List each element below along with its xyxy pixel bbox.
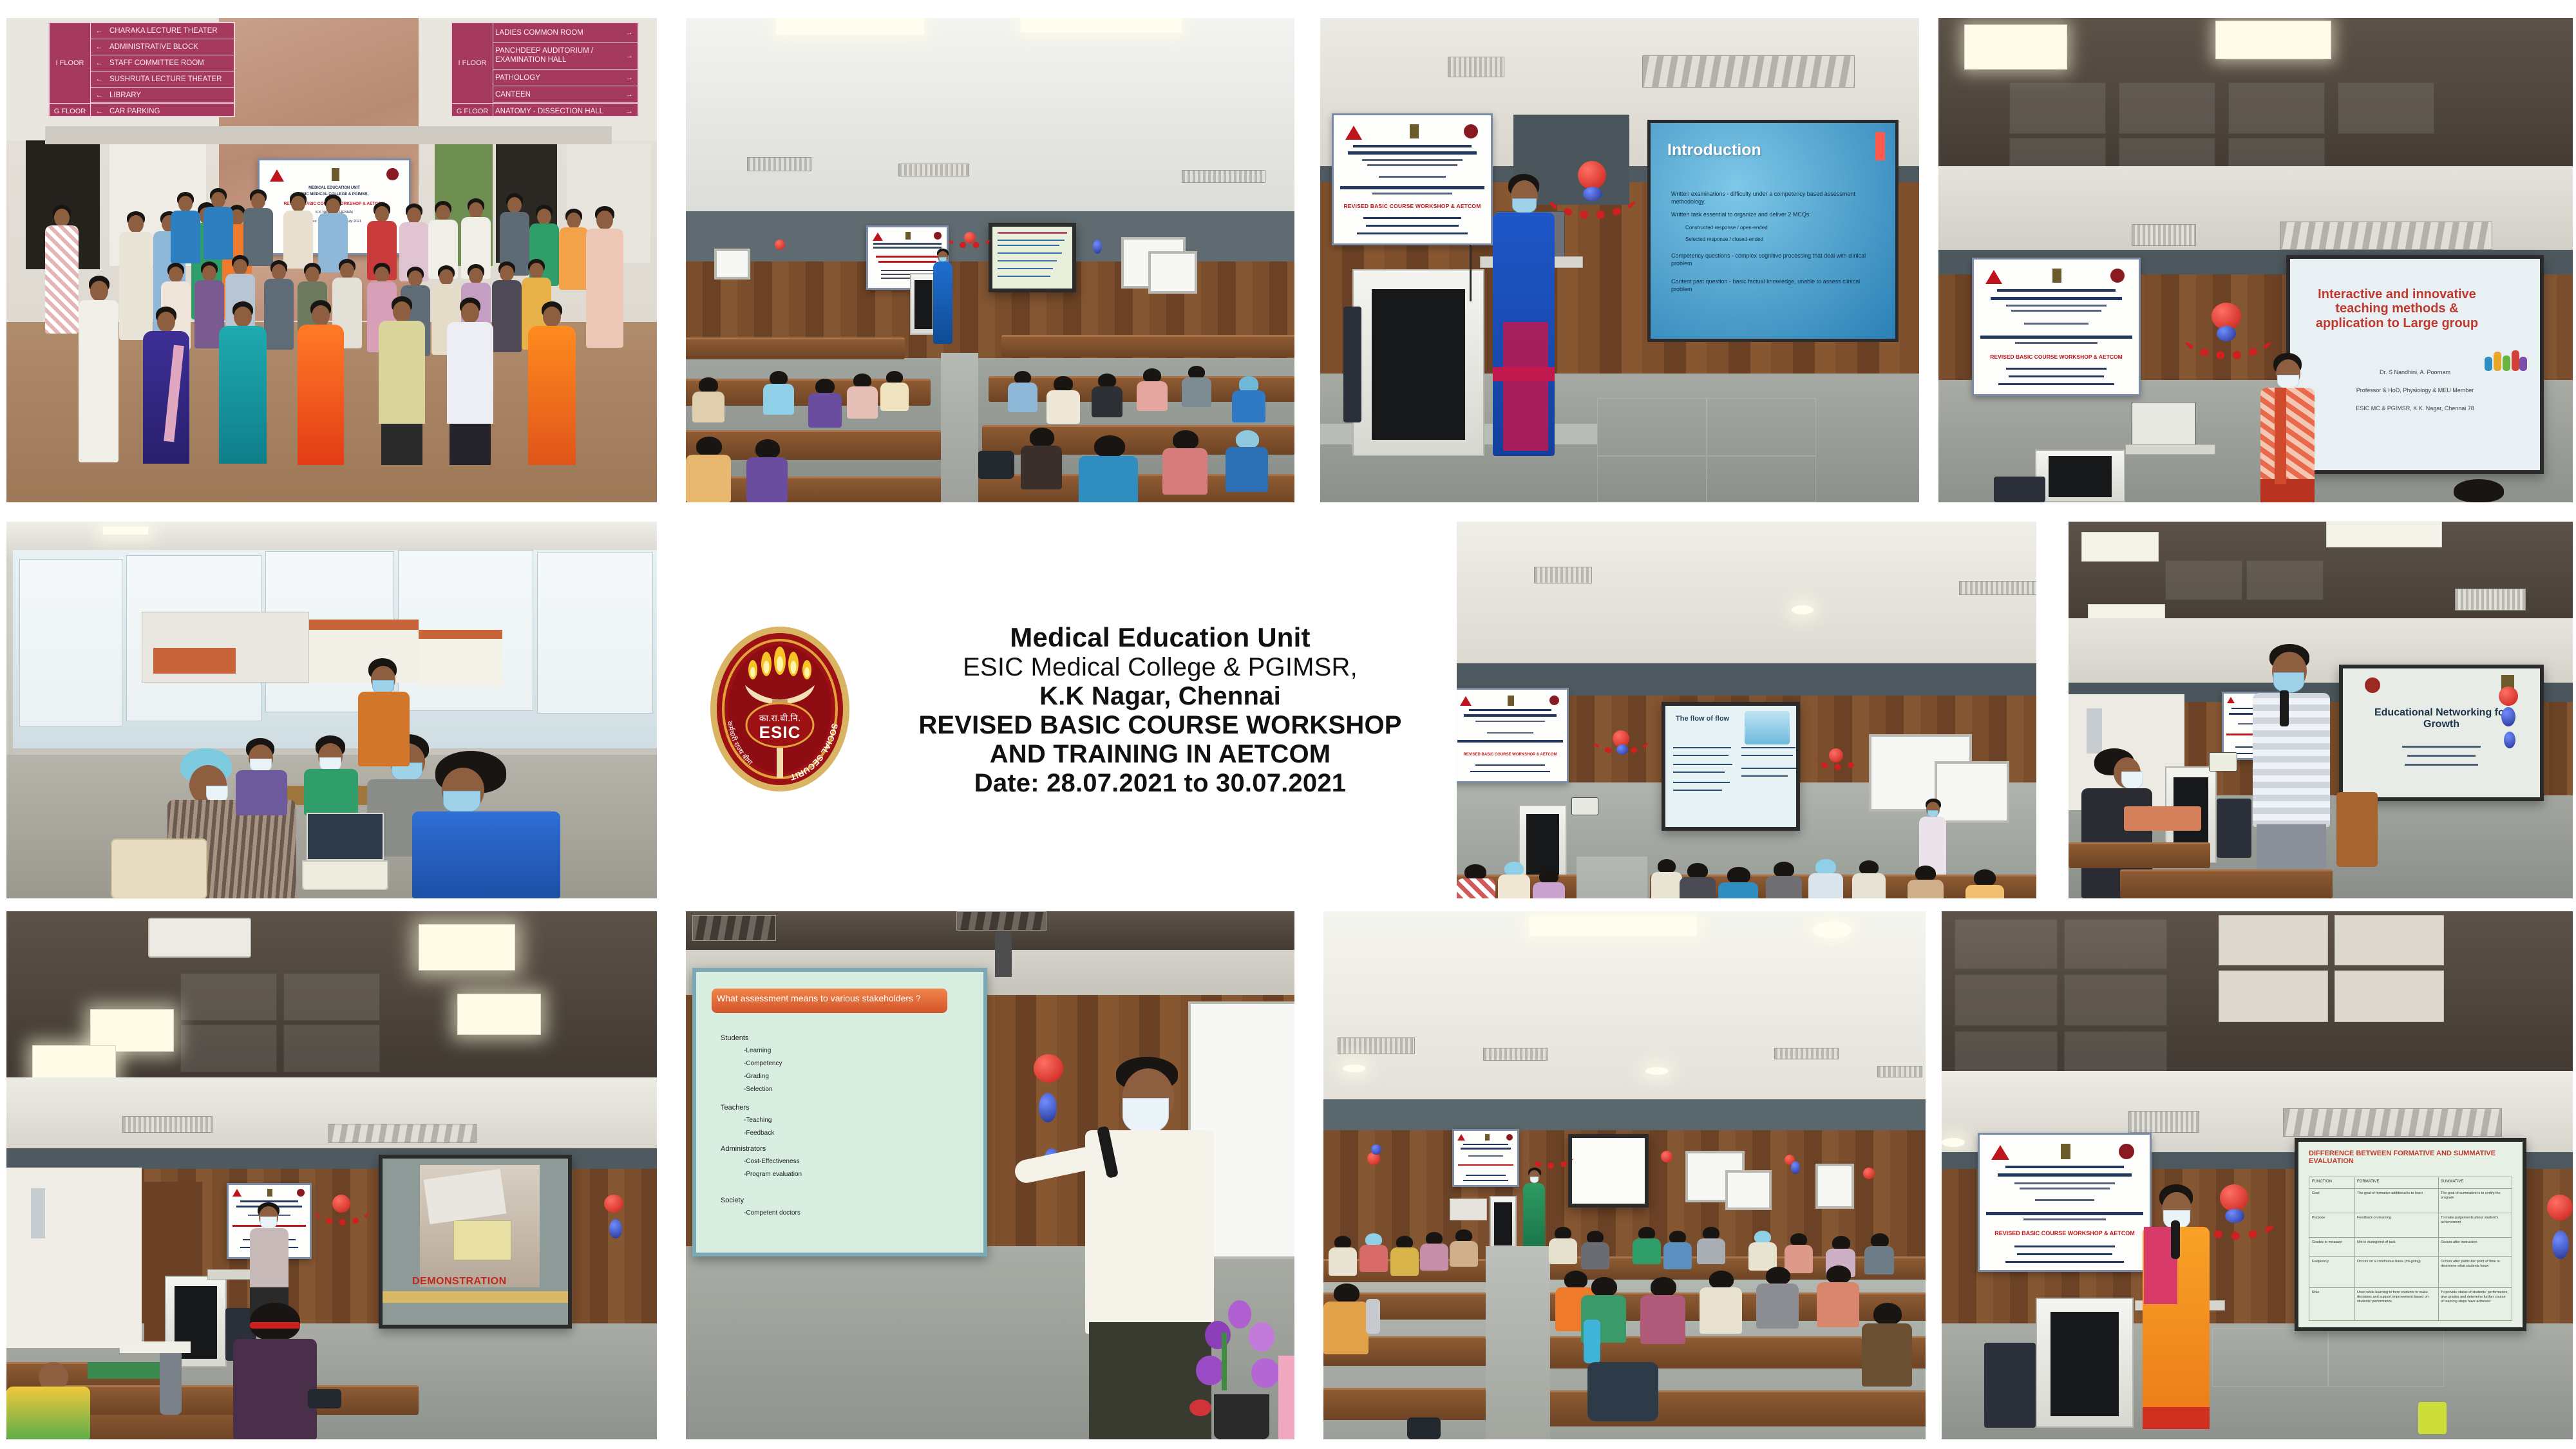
table-cell: Feedback on learning xyxy=(2357,1216,2436,1220)
emblem-icon xyxy=(2061,1144,2070,1159)
slide-title: DEMONSTRATION xyxy=(412,1276,507,1287)
slide-bullet: Written examinations - difficulty under … xyxy=(1671,190,1880,205)
sign-left-label: ADMINISTRATIVE BLOCK xyxy=(108,43,234,51)
chair xyxy=(2217,799,2251,858)
side-whiteboard xyxy=(714,249,750,279)
photo-lecture-hall-audience-1 xyxy=(686,18,1294,502)
projection-screen: Interactive and innovative teaching meth… xyxy=(2286,255,2544,474)
esic-logo: का.रा.बी.नि. ESIC SOCIAL SECURITY कर्मचा… xyxy=(705,623,855,797)
mci-logo-icon xyxy=(2227,697,2235,703)
emblem-icon xyxy=(332,168,339,181)
svg-text:ESIC: ESIC xyxy=(759,723,801,742)
title-line-2: ESIC Medical College & PGIMSR, xyxy=(871,653,1449,682)
projection-screen xyxy=(1568,1134,1649,1207)
sign-left-row: ← LIBRARY xyxy=(91,88,234,103)
balloon-blue xyxy=(1093,240,1102,254)
title-line-4: REVISED BASIC COURSE WORKSHOP xyxy=(871,711,1449,740)
balloon-blue xyxy=(2225,1209,2244,1223)
podium xyxy=(2035,450,2125,502)
sign-left-label: LIBRARY xyxy=(108,91,234,99)
laptop xyxy=(1571,797,1598,815)
table-cell: Used while learning to form students to … xyxy=(2357,1291,2436,1304)
balloon-red xyxy=(1829,748,1843,762)
chair xyxy=(111,838,207,898)
mci-logo-icon xyxy=(1985,270,2002,284)
photo-classroom-wide-view xyxy=(1323,911,1926,1439)
sign-right-label: LADIES COMMON ROOM xyxy=(493,29,621,37)
event-banner: REVISED BASIC COURSE WORKSHOP & AETCOM xyxy=(1457,688,1569,783)
projection-screen xyxy=(989,223,1076,292)
slide-bullet: Constructed response / open-ended xyxy=(1685,225,1880,232)
people-graphic-icon xyxy=(2483,348,2528,381)
balloon-blue xyxy=(1039,1093,1057,1122)
slide-group-name: Society xyxy=(721,1196,744,1206)
photo-lecture-hall-audience-2: REVISED BASIC COURSE WORKSHOP & AETCOM T… xyxy=(1457,522,2036,898)
slide-item: -Competency xyxy=(744,1059,782,1068)
speaker xyxy=(1493,174,1555,456)
slide-item: -Cost-Effectiveness xyxy=(744,1157,800,1166)
mci-logo-icon xyxy=(232,1189,241,1197)
sign-left-floor-2: G FLOOR xyxy=(50,103,91,118)
participant xyxy=(412,751,560,898)
sign-right-row: PANCHDEEP AUDITORIUM / EXAMINATION HALL … xyxy=(493,43,638,70)
chair xyxy=(1343,307,1361,422)
emblem-icon xyxy=(2052,269,2061,283)
photo-interactive-teaching-slide: REVISED BASIC COURSE WORKSHOP & AETCOM I… xyxy=(1938,18,2573,502)
sign-right-label: PATHOLOGY xyxy=(493,74,621,82)
arrow-right-icon: → xyxy=(621,108,638,115)
table-cell: Occurs after particular point of time to… xyxy=(2441,1260,2509,1269)
sign-right-label: PANCHDEEP AUDITORIUM / EXAMINATION HALL xyxy=(493,47,621,64)
sign-left-floor-1: I FLOOR xyxy=(50,23,91,103)
title-card: का.रा.बी.नि. ESIC SOCIAL SECURITY कर्मचा… xyxy=(686,522,1449,898)
waste-bin xyxy=(2418,1402,2447,1434)
sign-left-row: ← CAR PARKING xyxy=(91,103,234,118)
arrow-right-icon: → xyxy=(621,52,638,60)
balloon-red xyxy=(332,1195,350,1213)
speaker xyxy=(1523,1168,1545,1253)
table-cell: To provide status of students' performan… xyxy=(2441,1291,2509,1304)
banner-highlight: REVISED BASIC COURSE WORKSHOP & AETCOM xyxy=(1987,1230,2143,1236)
flipchart xyxy=(1725,1170,1772,1210)
slide-institution: ESIC MC & PGIMSR, K.K. Nagar, Chennai 78 xyxy=(2309,404,2521,412)
arrow-left-icon: ← xyxy=(91,75,108,83)
college-seal-icon xyxy=(1464,124,1478,138)
slide-title: Educational Networking for Growth xyxy=(2358,707,2524,730)
projection-screen: Introduction Written examinations - diff… xyxy=(1647,120,1899,342)
photo-demonstration-slide: DEMONSTRATION xyxy=(6,911,657,1439)
flower-arrangement xyxy=(1189,1294,1293,1439)
emblem-icon xyxy=(1410,124,1419,138)
title-line-1: Medical Education Unit xyxy=(871,622,1449,653)
sign-left-row: ← CHARAKA LECTURE THEATER xyxy=(91,23,234,39)
chair xyxy=(1994,477,2045,502)
mci-logo-icon xyxy=(873,232,883,241)
title-line-3: K.K Nagar, Chennai xyxy=(871,682,1449,711)
sign-right-floor-2: G FLOOR xyxy=(452,103,493,118)
sign-left-row: ← ADMINISTRATIVE BLOCK xyxy=(91,39,234,55)
arrow-left-icon: ← xyxy=(91,43,108,51)
title-text-block: Medical Education Unit ESIC Medical Coll… xyxy=(855,622,1449,798)
event-banner: REVISED BASIC COURSE WORKSHOP & AETCOM xyxy=(1972,258,2141,396)
sign-left-label: CAR PARKING xyxy=(108,108,234,115)
participant xyxy=(236,738,287,815)
photo-educational-networking-slide: Educational Networking for Growth xyxy=(2069,522,2573,898)
slide-title: The flow of flow xyxy=(1676,715,1729,723)
slide-designation: Professor & HoD, Physiology & MEU Member xyxy=(2309,386,2521,394)
slide-title: DIFFERENCE BETWEEN FORMATIVE AND SUMMATI… xyxy=(2309,1150,2512,1166)
balloon-red xyxy=(1034,1054,1063,1083)
arrow-right-icon: → xyxy=(621,91,638,99)
microphone xyxy=(2171,1220,2180,1259)
laptop xyxy=(2209,752,2237,772)
podium xyxy=(1352,269,1484,456)
sign-right-row: LADIES COMMON ROOM → xyxy=(493,23,638,43)
audience-head xyxy=(2454,479,2504,502)
mci-logo-icon xyxy=(1457,1134,1465,1141)
college-seal-icon xyxy=(2110,269,2125,283)
projection-screen: The flow of flow xyxy=(1662,702,1800,831)
directory-sign-left: I FLOOR G FLOOR ← CHARAKA LECTURE THEATE… xyxy=(48,22,235,117)
podium xyxy=(1490,1196,1517,1251)
banner-highlight: REVISED BASIC COURSE WORKSHOP & AETCOM xyxy=(1340,203,1485,209)
projection-screen: DIFFERENCE BETWEEN FORMATIVE AND SUMMATI… xyxy=(2295,1138,2526,1331)
slide-title: What assessment means to various stakeho… xyxy=(717,994,943,1004)
audience-member xyxy=(233,1303,317,1439)
balloon-red xyxy=(2220,1184,2248,1211)
photo-group-photo: I FLOOR G FLOOR ← CHARAKA LECTURE THEATE… xyxy=(6,18,657,502)
podium xyxy=(2036,1298,2134,1428)
table-cell: The goal of formative additional is to l… xyxy=(2357,1191,2436,1196)
laptop xyxy=(307,813,384,890)
table-cell: Occurs after instruction xyxy=(2441,1240,2509,1245)
speaker xyxy=(2143,1184,2210,1429)
slide-bullet: Content past question - basic factual kn… xyxy=(1671,278,1880,293)
mci-logo-icon xyxy=(270,169,284,182)
slide-item: -Learning xyxy=(744,1046,771,1056)
balloon-blue xyxy=(2504,732,2515,748)
sign-left-label: CHARAKA LECTURE THEATER xyxy=(108,27,234,35)
balloon-blue xyxy=(609,1219,622,1238)
table-cell: Frequency xyxy=(2312,1260,2352,1264)
directory-sign-right: I FLOOR G FLOOR LADIES COMMON ROOM → PAN… xyxy=(451,22,639,117)
title-line-5: AND TRAINING IN AETCOM xyxy=(871,740,1449,769)
event-banner: REVISED BASIC COURSE WORKSHOP & AETCOM xyxy=(1332,113,1493,245)
slide-item: -Program evaluation xyxy=(744,1170,802,1179)
photo-small-group-laptop-session xyxy=(6,522,657,898)
balloon-blue xyxy=(2501,707,2515,726)
table-cell: Occurs on a continuous basis (on-going) xyxy=(2357,1260,2436,1264)
college-seal-icon xyxy=(2365,677,2380,693)
balloon-blue xyxy=(2217,326,2236,341)
photo-collage: I FLOOR G FLOOR ← CHARAKA LECTURE THEATE… xyxy=(0,0,2576,1449)
arrow-right-icon: → xyxy=(621,29,638,37)
participant xyxy=(304,735,358,815)
wooden-chair xyxy=(2336,792,2378,867)
college-seal-icon xyxy=(386,168,399,180)
slide-group-name: Teachers xyxy=(721,1103,750,1113)
arrow-left-icon: ← xyxy=(91,27,108,35)
speaker xyxy=(2260,353,2315,502)
table-cell: Grades to measure xyxy=(2312,1240,2352,1245)
balloon-red xyxy=(964,232,976,243)
balloon-red xyxy=(2547,1195,2573,1220)
decorative-garland xyxy=(1528,1147,1573,1169)
photo-formative-summative-slide: REVISED BASIC COURSE WORKSHOP & AETCOM D… xyxy=(1942,911,2573,1439)
sign-right-floor-1: I FLOOR xyxy=(452,23,493,103)
slide-item: -Competent doctors xyxy=(744,1209,800,1218)
slide-group-name: Students xyxy=(721,1034,748,1043)
slide-title: Interactive and innovative teaching meth… xyxy=(2306,287,2488,330)
table-cell: To make judgements about student's achie… xyxy=(2441,1216,2509,1225)
side-screen xyxy=(1815,1164,1854,1209)
sign-right-label: ANATOMY - DISSECTION HALL xyxy=(493,108,621,115)
balloon-red xyxy=(1578,161,1606,189)
slide-item: -Selection xyxy=(744,1085,772,1094)
speaker xyxy=(933,249,952,344)
chair xyxy=(1984,1343,2036,1428)
table-cell: Role xyxy=(2312,1291,2352,1295)
table-cell: The goal of summative is to certify the … xyxy=(2441,1191,2509,1200)
slide-bullet: Selected response / closed-ended xyxy=(1685,236,1880,243)
speaker xyxy=(2253,644,2330,898)
banner-highlight: REVISED BASIC COURSE WORKSHOP & AETCOM xyxy=(1980,354,2132,360)
projection-screen: DEMONSTRATION xyxy=(379,1155,572,1329)
projection-screen: What assessment means to various stakeho… xyxy=(692,968,987,1256)
title-line-6: Date: 28.07.2021 to 30.07.2021 xyxy=(871,769,1449,798)
slide-bullet: Competency questions - complex cognitive… xyxy=(1671,252,1880,267)
banner-line-1: MEDICAL EDUCATION UNIT xyxy=(265,186,402,190)
slide-item: -Teaching xyxy=(744,1116,772,1125)
table-header-cell: FORMATIVE xyxy=(2357,1180,2380,1184)
speaker xyxy=(250,1202,289,1318)
balloon-blue xyxy=(1616,744,1628,755)
mci-logo-icon xyxy=(1991,1145,2009,1160)
balloon-red xyxy=(2499,687,2518,706)
photo-podium-introduction-slide: REVISED BASIC COURSE WORKSHOP & AETCOM I… xyxy=(1320,18,1919,502)
balloon-red xyxy=(604,1195,623,1213)
sign-left-row: ← STAFF COMMITTEE ROOM xyxy=(91,55,234,71)
laptop xyxy=(2132,402,2196,446)
photo-assessment-stakeholders-slide: What assessment means to various stakeho… xyxy=(686,911,1294,1439)
college-seal-icon xyxy=(2119,1144,2134,1159)
slide-group-name: Administrators xyxy=(721,1144,766,1154)
flipchart xyxy=(1148,251,1197,294)
banner-highlight: REVISED BASIC COURSE WORKSHOP & AETCOM xyxy=(1458,753,1562,757)
audience-member xyxy=(6,1356,90,1439)
arrow-left-icon: ← xyxy=(91,59,108,67)
projector xyxy=(148,918,251,958)
slide-item: -Grading xyxy=(744,1072,769,1081)
table-header-cell: FUNCTION xyxy=(2312,1180,2332,1184)
balloon-red xyxy=(1661,1151,1672,1162)
mci-logo-icon xyxy=(1345,126,1362,140)
balloon-blue xyxy=(1791,1161,1800,1174)
arrow-right-icon: → xyxy=(621,74,638,82)
event-banner xyxy=(1452,1129,1519,1187)
table-cell: Goal xyxy=(2312,1191,2352,1196)
arrow-left-icon: ← xyxy=(91,108,108,115)
table-header-cell: SUMMATIVE xyxy=(2441,1180,2463,1184)
sign-left-row: ← SUSHRUTA LECTURE THEATER xyxy=(91,71,234,88)
balloon-red xyxy=(1863,1168,1875,1179)
sign-right-row: CANTEEN → xyxy=(493,86,638,103)
balloon-blue xyxy=(2552,1231,2569,1259)
slide-item: -Feedback xyxy=(744,1129,774,1138)
sign-right-row: ANATOMY - DISSECTION HALL → xyxy=(493,103,638,118)
sign-right-row: PATHOLOGY → xyxy=(493,70,638,86)
event-banner: REVISED BASIC COURSE WORKSHOP & AETCOM xyxy=(1978,1133,2152,1272)
balloon-red xyxy=(775,240,785,250)
slide-title: Introduction xyxy=(1667,141,1761,159)
sign-left-label: STAFF COMMITTEE ROOM xyxy=(108,59,234,67)
mci-logo-icon xyxy=(1460,696,1472,706)
slide-table: FUNCTION FORMATIVE SUMMATIVE Goal The go… xyxy=(2309,1177,2512,1321)
participant xyxy=(358,658,410,766)
table-cell: Not in during/end of task xyxy=(2357,1240,2436,1245)
arrow-left-icon: ← xyxy=(91,91,108,99)
sign-left-label: SUSHRUTA LECTURE THEATER xyxy=(108,75,234,83)
balloon-blue xyxy=(1583,187,1602,201)
slide-bullet: Written task essential to organize and d… xyxy=(1671,211,1880,218)
sign-right-label: CANTEEN xyxy=(493,91,621,99)
table-cell: Purpose xyxy=(2312,1216,2352,1220)
balloon-blue xyxy=(1371,1144,1381,1155)
